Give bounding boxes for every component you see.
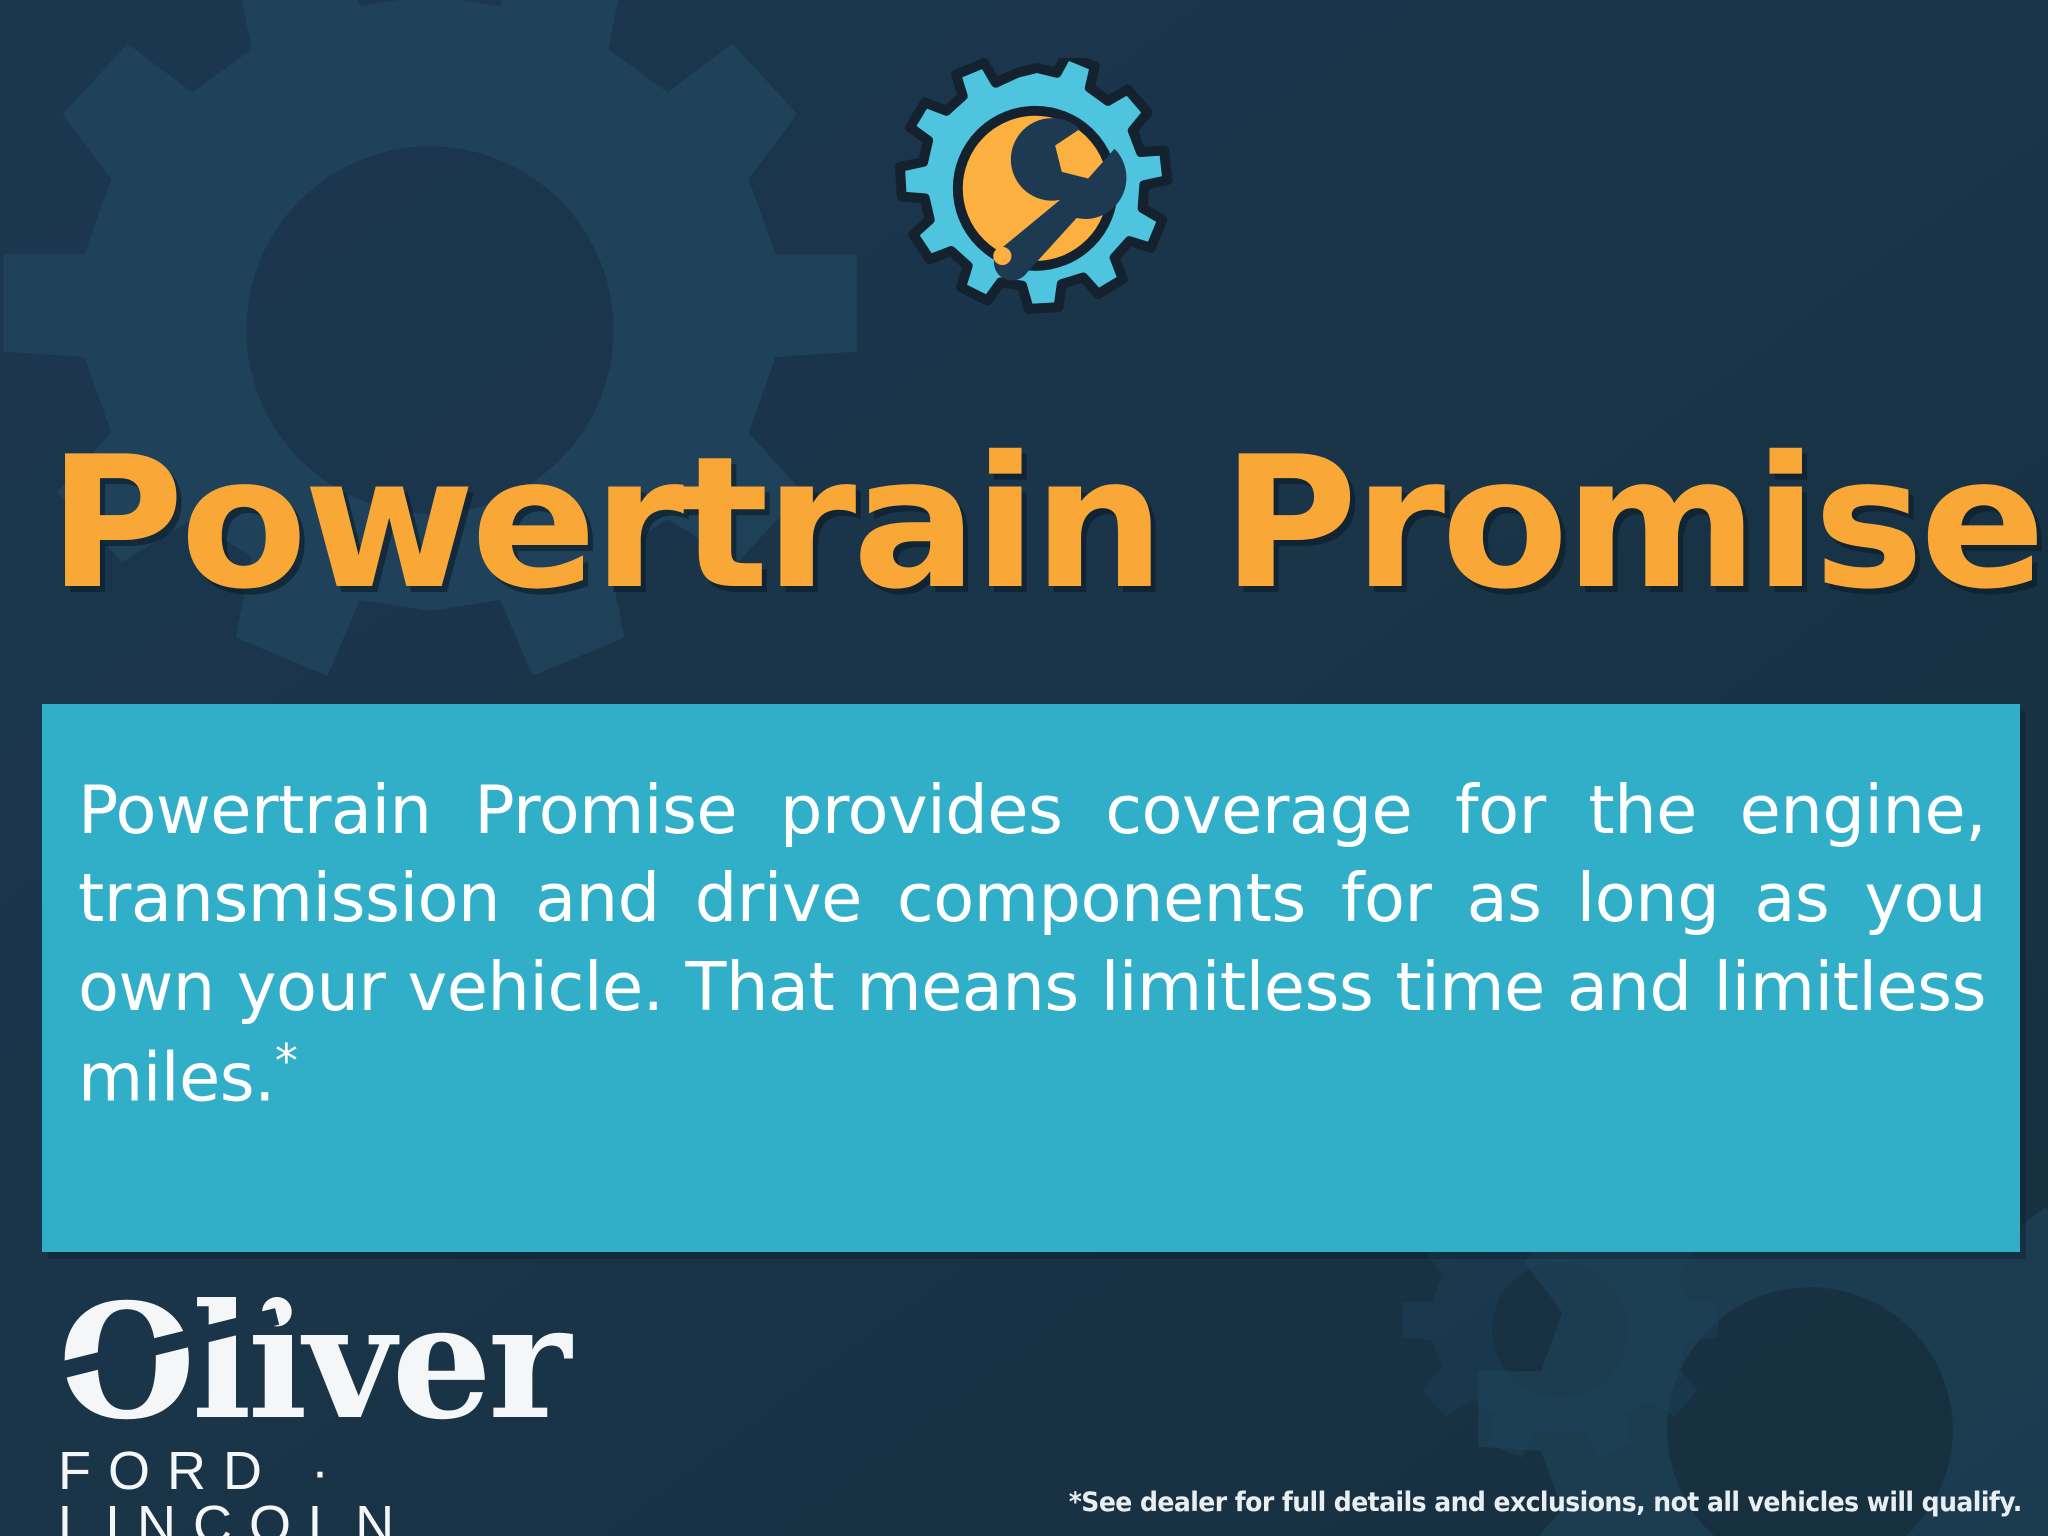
dealer-logo: Oliver FORD · LINCOLN xyxy=(58,1288,678,1503)
gear-wrench-icon xyxy=(862,58,1212,388)
disclaimer-text: *See dealer for full details and exclusi… xyxy=(1069,1487,2022,1518)
page-title: Powertrain Promise xyxy=(48,432,2047,614)
description-body: Powertrain Promise provides coverage for… xyxy=(78,771,1986,1117)
logo-subtitle: FORD · LINCOLN xyxy=(58,1444,678,1536)
description-asterisk: * xyxy=(275,1034,298,1088)
powertrain-promise-poster: Powertrain Promise Powertrain Promise pr… xyxy=(0,0,2048,1536)
logo-wordmark: Oliver xyxy=(58,1288,678,1438)
description-panel: Powertrain Promise provides coverage for… xyxy=(42,704,2020,1252)
description-text: Powertrain Promise provides coverage for… xyxy=(78,766,1986,1122)
